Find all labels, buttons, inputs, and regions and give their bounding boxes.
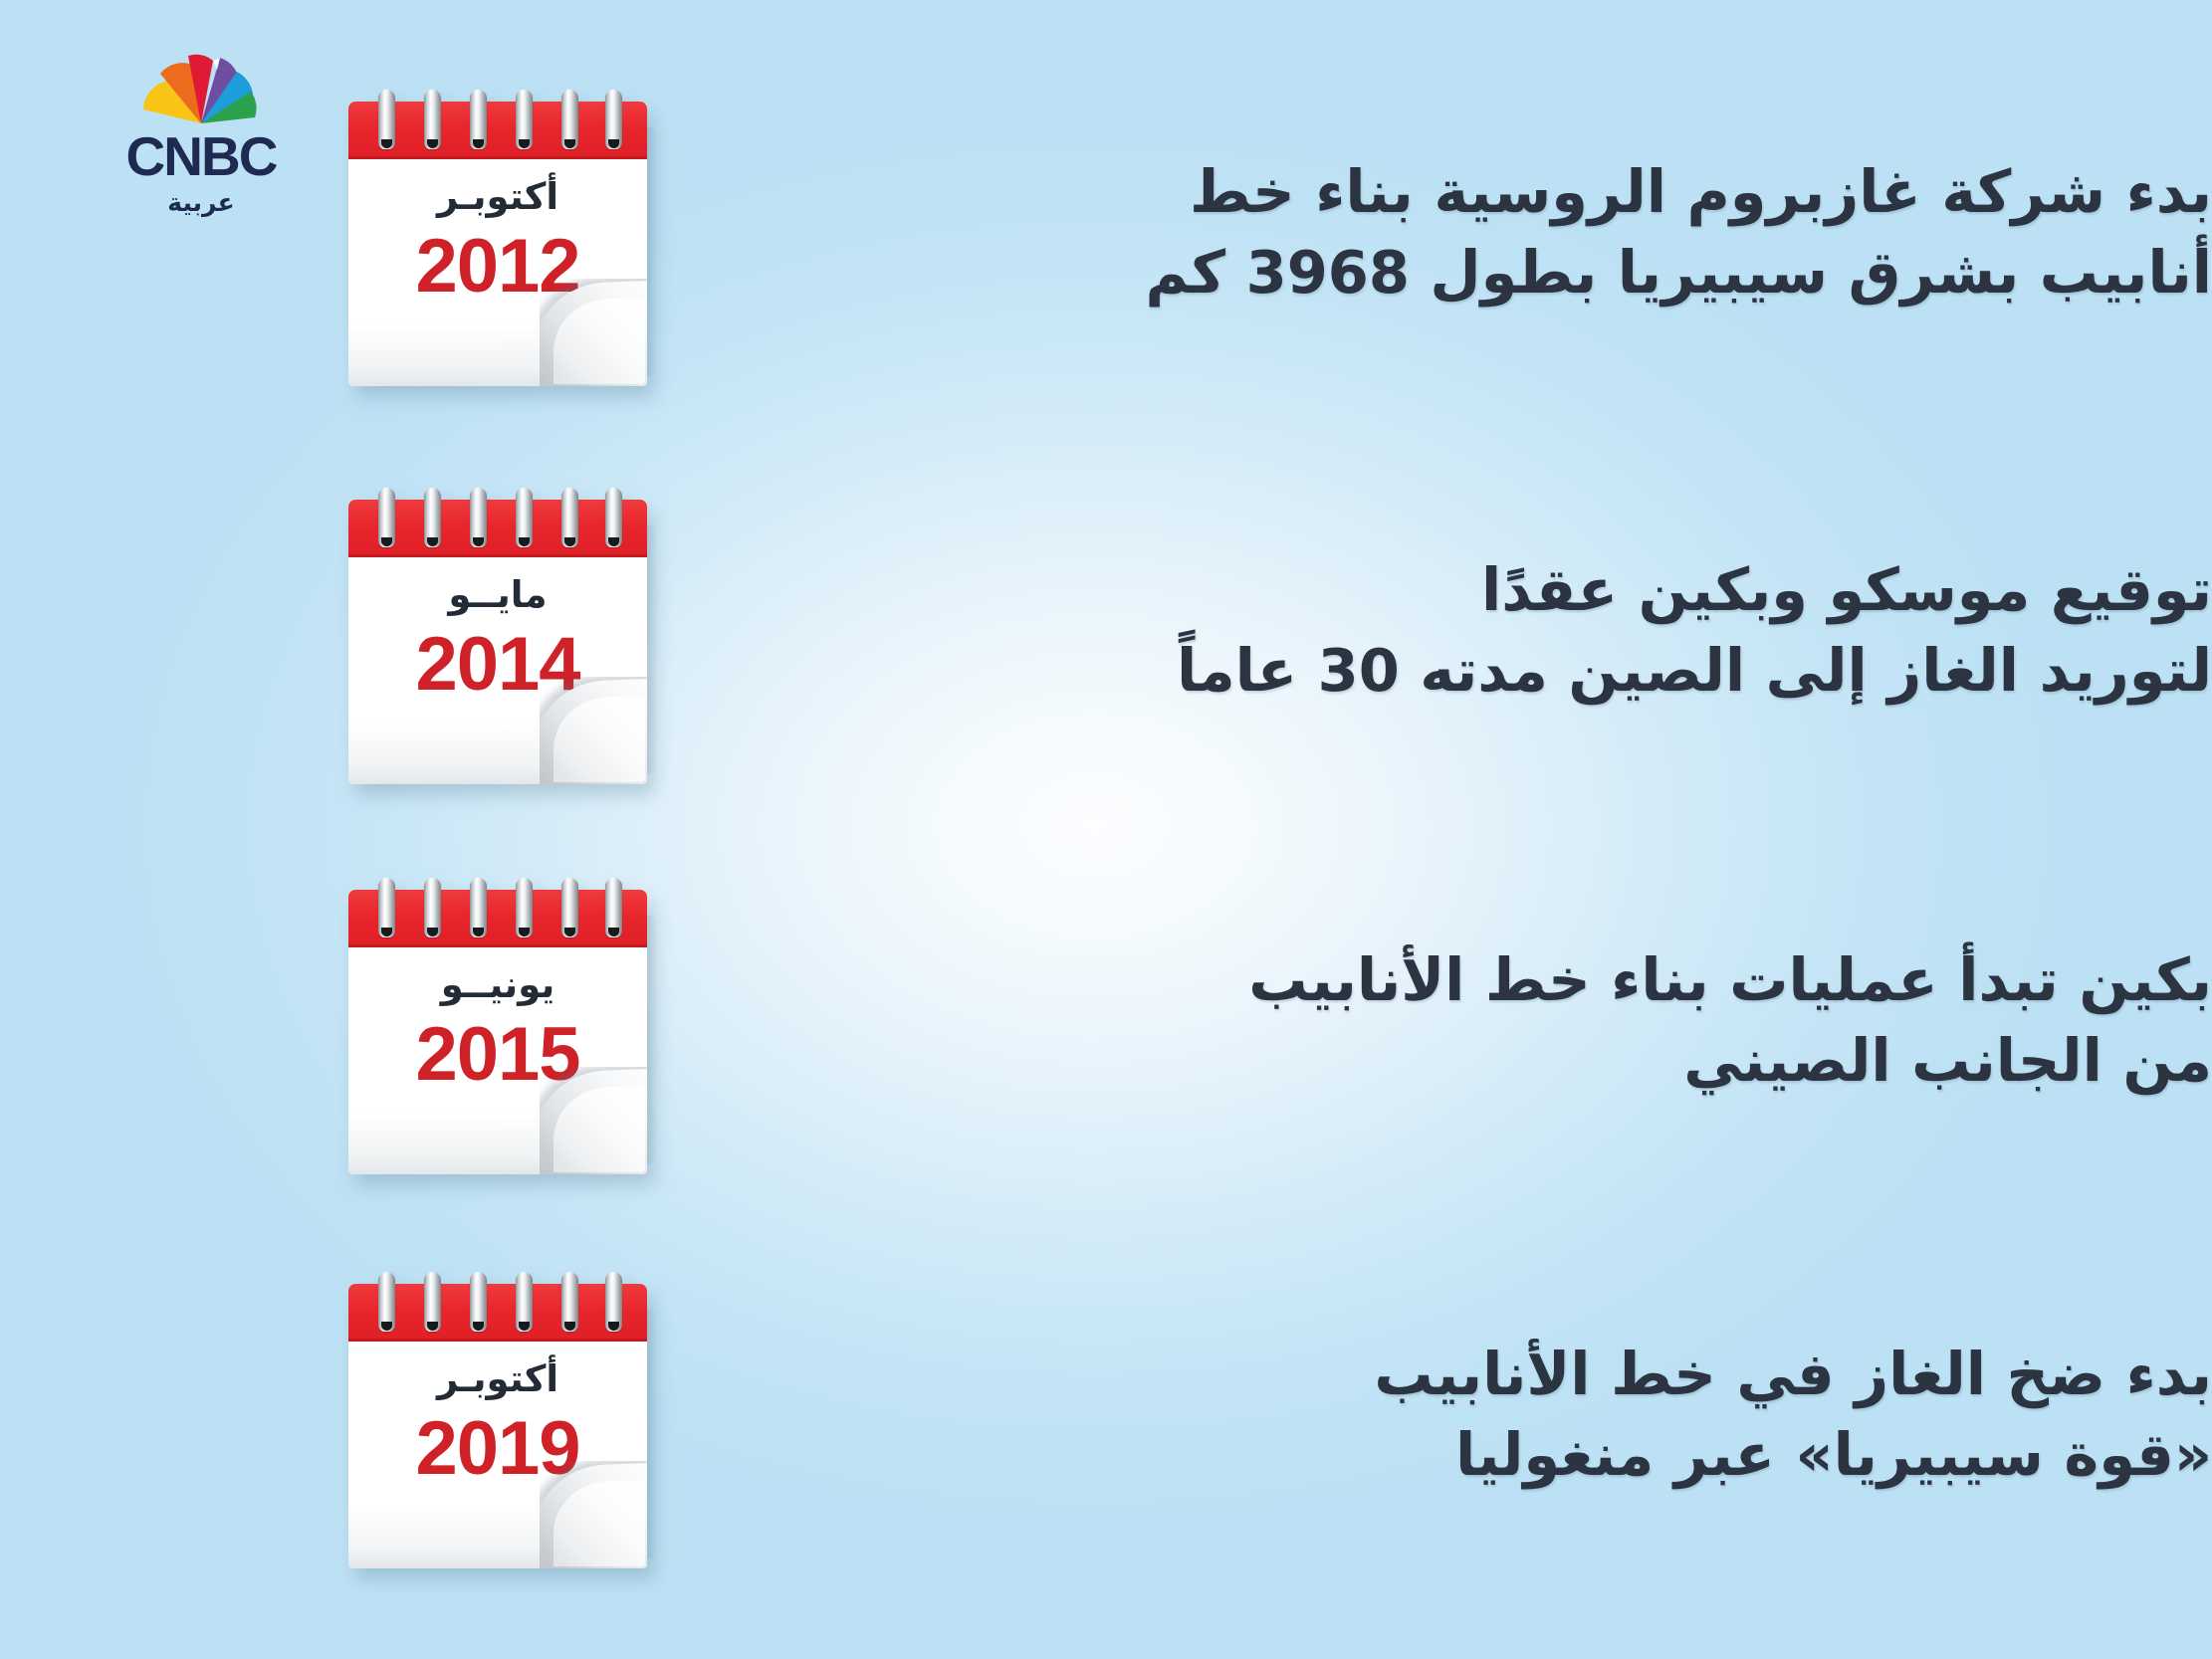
infographic-canvas: CNBC عربية بدء شركة غازبروم الروسية بناء… xyxy=(0,0,2212,1659)
calendar-header-bar xyxy=(348,1284,647,1342)
timeline-row-2014: توقيع موسكو وبكين عقدًا لتوريد الغاز إلى… xyxy=(0,478,2212,796)
calendar-header-bar xyxy=(348,500,647,557)
event-text-2012: بدء شركة غازبروم الروسية بناء خط أنابيب … xyxy=(659,80,2212,313)
calendar-month-label: مايــو xyxy=(348,573,647,616)
event-line: أنابيب بشرق سيبيريا بطول 3968 كم xyxy=(778,232,2212,312)
calendar-body: أكتوبـر 2012 xyxy=(348,102,647,386)
timeline-row-2019: بدء ضخ الغاز في خط الأنابيب «قوة سيبيريا… xyxy=(0,1262,2212,1580)
calendar-year-label: 2012 xyxy=(348,229,647,305)
calendar-body: أكتوبـر 2019 xyxy=(348,1284,647,1568)
calendar-2019: أكتوبـر 2019 xyxy=(340,1262,659,1580)
timeline-row-2015: بكين تبدأ عمليات بناء خط الأنابيب من الج… xyxy=(0,868,2212,1186)
event-line: بدء شركة غازبروم الروسية بناء خط xyxy=(778,151,2212,232)
timeline-row-2012: بدء شركة غازبروم الروسية بناء خط أنابيب … xyxy=(0,80,2212,398)
event-line: من الجانب الصيني xyxy=(778,1020,2212,1101)
event-line: بكين تبدأ عمليات بناء خط الأنابيب xyxy=(778,939,2212,1020)
event-line: بدء ضخ الغاز في خط الأنابيب xyxy=(778,1334,2212,1414)
calendar-body: مايــو 2014 xyxy=(348,500,647,784)
event-line: لتوريد الغاز إلى الصين مدته 30 عاماً xyxy=(778,630,2212,711)
event-line: توقيع موسكو وبكين عقدًا xyxy=(778,549,2212,630)
event-text-2019: بدء ضخ الغاز في خط الأنابيب «قوة سيبيريا… xyxy=(659,1262,2212,1496)
event-line: «قوة سيبيريا» عبر منغوليا xyxy=(778,1414,2212,1495)
calendar-2012: أكتوبـر 2012 xyxy=(340,80,659,398)
calendar-year-label: 2014 xyxy=(348,627,647,703)
calendar-2015: يونيــو 2015 xyxy=(340,868,659,1186)
calendar-month-label: يونيــو xyxy=(348,963,647,1006)
event-text-2014: توقيع موسكو وبكين عقدًا لتوريد الغاز إلى… xyxy=(659,478,2212,712)
calendar-header-bar xyxy=(348,102,647,159)
calendar-2014: مايــو 2014 xyxy=(340,478,659,796)
calendar-body: يونيــو 2015 xyxy=(348,890,647,1174)
calendar-month-label: أكتوبـر xyxy=(348,175,647,218)
calendar-month-label: أكتوبـر xyxy=(348,1357,647,1400)
event-text-2015: بكين تبدأ عمليات بناء خط الأنابيب من الج… xyxy=(659,868,2212,1102)
calendar-year-label: 2019 xyxy=(348,1411,647,1487)
calendar-year-label: 2015 xyxy=(348,1017,647,1093)
calendar-header-bar xyxy=(348,890,647,947)
